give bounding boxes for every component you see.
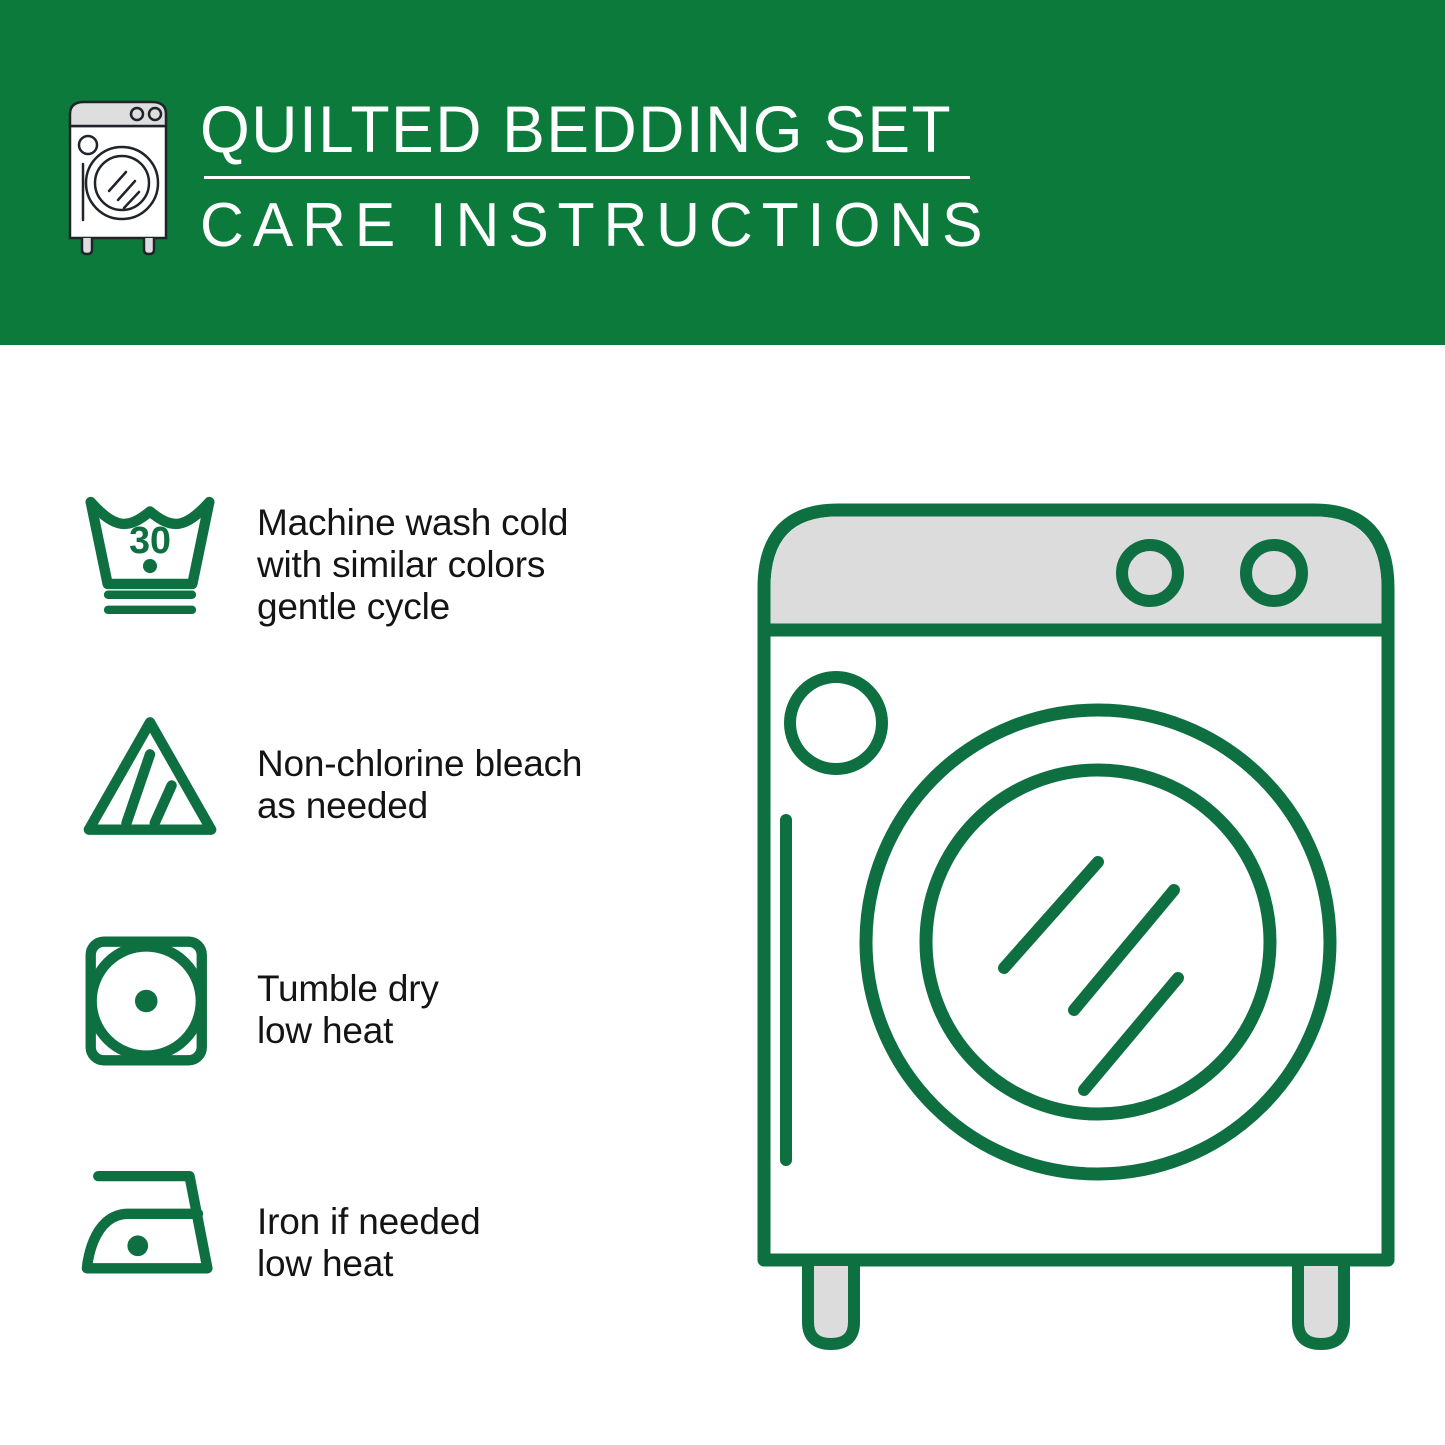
care-label-line: Machine wash cold [257,502,568,544]
care-label-tumble-dry: Tumble dry low heat [235,930,439,1052]
title-divider [204,176,970,179]
care-label-iron: Iron if needed low heat [235,1155,480,1285]
care-label-line: low heat [257,1243,480,1285]
iron-low-heat-icon [70,1155,235,1297]
care-instructions-page: QUILTED BEDDING SET CARE INSTRUCTIONS 30 [0,0,1445,1445]
leg-right [1298,1260,1344,1344]
care-label-line: Iron if needed [257,1201,480,1243]
washing-machine-icon [62,88,184,258]
care-label-bleach: Non-chlorine bleach as needed [235,705,582,827]
care-row-tumble-dry: Tumble dry low heat [70,930,690,1155]
care-label-line: Tumble dry [257,968,439,1010]
washing-machine-illustration [726,480,1426,1360]
care-row-iron: Iron if needed low heat [70,1155,690,1380]
leg-left [808,1260,854,1344]
non-chlorine-bleach-triangle-icon [70,705,235,847]
wash-tub-30-icon: 30 [70,480,235,622]
page-title: QUILTED BEDDING SET [200,92,983,166]
control-panel [771,517,1382,631]
header-titles: QUILTED BEDDING SET CARE INSTRUCTIONS [200,88,1007,261]
care-label-line: Non-chlorine bleach [257,743,582,785]
care-row-bleach: Non-chlorine bleach as needed [70,705,690,930]
care-label-machine-wash: Machine wash cold with similar colors ge… [235,480,568,628]
header-content: QUILTED BEDDING SET CARE INSTRUCTIONS [62,88,1007,261]
care-instructions-list: 30 Machine wash cold with similar colors… [70,480,690,1380]
care-label-line: as needed [257,785,582,827]
care-label-line: gentle cycle [257,586,568,628]
page-subtitle: CARE INSTRUCTIONS [200,191,991,261]
care-label-line: low heat [257,1010,439,1052]
tumble-dry-low-icon [70,930,235,1072]
care-row-machine-wash: 30 Machine wash cold with similar colors… [70,480,690,705]
care-label-line: with similar colors [257,544,568,586]
header-banner: QUILTED BEDDING SET CARE INSTRUCTIONS [0,0,1445,345]
wash-temperature-value: 30 [129,519,171,561]
